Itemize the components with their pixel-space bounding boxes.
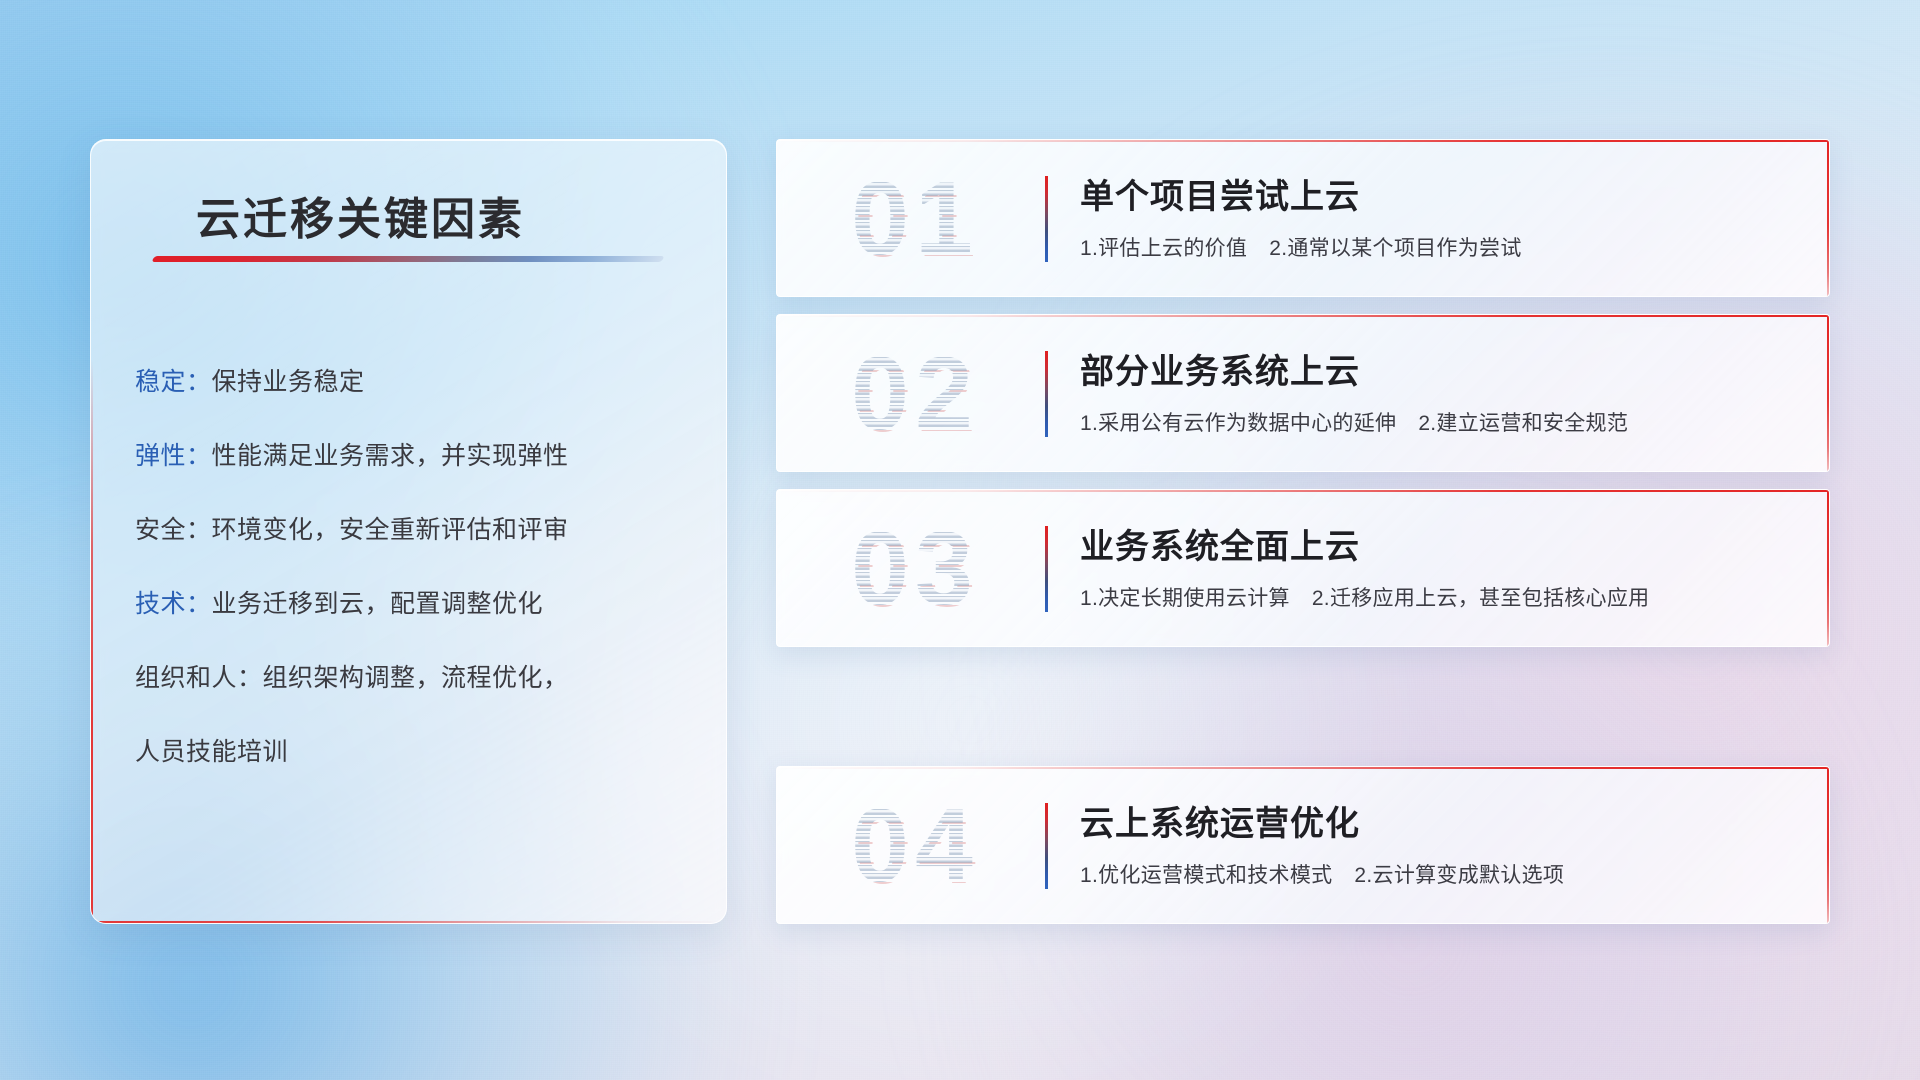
list-item-value: 环境变化，安全重新评估和评审 — [212, 516, 569, 544]
card-description: 1.评估上云的价值2.通常以某个项目作为尝试 — [1080, 232, 1522, 262]
stage-number: 02 — [801, 329, 1029, 459]
list-item-key: 稳定： — [135, 368, 212, 396]
slide-stage: 云迁移关键因素 稳定：保持业务稳定 弹性：性能满足业务需求，并实现弹性 安全：环… — [0, 0, 1920, 1080]
list-item-value: 人员技能培训 — [135, 738, 288, 766]
list-item: 稳定：保持业务稳定 — [135, 345, 696, 419]
list-item-key: 弹性： — [135, 442, 212, 470]
card-top-accent-line — [777, 767, 1829, 769]
card-point-2: 2.迁移应用上云，甚至包括核心应用 — [1312, 587, 1650, 610]
panel-bottom-accent-edge — [91, 921, 726, 923]
list-item-value: 业务迁移到云，配置调整优化 — [212, 590, 544, 618]
card-accent-bar — [1045, 803, 1048, 889]
card-description: 1.决定长期使用云计算2.迁移应用上云，甚至包括核心应用 — [1080, 582, 1649, 612]
card-description: 1.采用公有云作为数据中心的延伸2.建立运营和安全规范 — [1080, 407, 1628, 437]
card-right-accent-line — [1827, 767, 1829, 923]
list-item-continuation: 人员技能培训 — [135, 715, 696, 789]
card-point-1: 1.采用公有云作为数据中心的延伸 — [1080, 412, 1396, 435]
card-point-1: 1.优化运营模式和技术模式 — [1080, 864, 1332, 887]
key-factors-list: 稳定：保持业务稳定 弹性：性能满足业务需求，并实现弹性 安全：环境变化，安全重新… — [135, 345, 696, 789]
stage-number: 04 — [801, 781, 1029, 911]
list-item-value: 性能满足业务需求，并实现弹性 — [212, 442, 569, 470]
stage-card-04[interactable]: 04 04 云上系统运营优化 1.优化运营模式和技术模式2.云计算变成默认选项 — [776, 766, 1830, 924]
card-top-accent-line — [777, 140, 1829, 142]
card-title: 部分业务系统上云 — [1080, 344, 1360, 393]
card-right-accent-line — [1827, 315, 1829, 471]
card-right-accent-line — [1827, 490, 1829, 646]
key-factors-panel: 云迁移关键因素 稳定：保持业务稳定 弹性：性能满足业务需求，并实现弹性 安全：环… — [90, 139, 727, 924]
list-item-key: 技术： — [135, 590, 212, 618]
list-item: 技术：业务迁移到云，配置调整优化 — [135, 567, 696, 641]
list-item-key: 安全： — [135, 516, 212, 544]
card-accent-bar — [1045, 526, 1048, 612]
stage-number: 03 — [801, 504, 1029, 634]
stage-card-01[interactable]: 01 01 单个项目尝试上云 1.评估上云的价值2.通常以某个项目作为尝试 — [776, 139, 1830, 297]
card-title: 云上系统运营优化 — [1080, 796, 1360, 845]
card-right-accent-line — [1827, 140, 1829, 296]
list-item: 安全：环境变化，安全重新评估和评审 — [135, 493, 696, 567]
card-accent-bar — [1045, 176, 1048, 262]
list-item-key: 组织和人： — [135, 664, 263, 692]
stage-number: 01 — [801, 154, 1029, 284]
card-top-accent-line — [777, 490, 1829, 492]
stage-card-03[interactable]: 03 03 业务系统全面上云 1.决定长期使用云计算2.迁移应用上云，甚至包括核… — [776, 489, 1830, 647]
card-top-accent-line — [777, 315, 1829, 317]
list-item: 组织和人：组织架构调整，流程优化， — [135, 641, 696, 715]
stage-card-02[interactable]: 02 02 部分业务系统上云 1.采用公有云作为数据中心的延伸2.建立运营和安全… — [776, 314, 1830, 472]
card-title: 单个项目尝试上云 — [1080, 169, 1360, 218]
card-title: 业务系统全面上云 — [1080, 519, 1360, 568]
card-point-2: 2.通常以某个项目作为尝试 — [1269, 237, 1521, 260]
card-accent-bar — [1045, 351, 1048, 437]
card-point-2: 2.云计算变成默认选项 — [1354, 864, 1564, 887]
title-underline-gradient — [151, 256, 664, 262]
card-point-1: 1.评估上云的价值 — [1080, 237, 1247, 260]
card-point-1: 1.决定长期使用云计算 — [1080, 587, 1290, 610]
card-description: 1.优化运营模式和技术模式2.云计算变成默认选项 — [1080, 859, 1564, 889]
page-title: 云迁移关键因素 — [196, 183, 525, 247]
panel-left-accent-edge — [91, 140, 93, 923]
card-point-2: 2.建立运营和安全规范 — [1418, 412, 1628, 435]
list-item: 弹性：性能满足业务需求，并实现弹性 — [135, 419, 696, 493]
list-item-value: 组织架构调整，流程优化， — [263, 664, 569, 692]
list-item-value: 保持业务稳定 — [212, 368, 365, 396]
